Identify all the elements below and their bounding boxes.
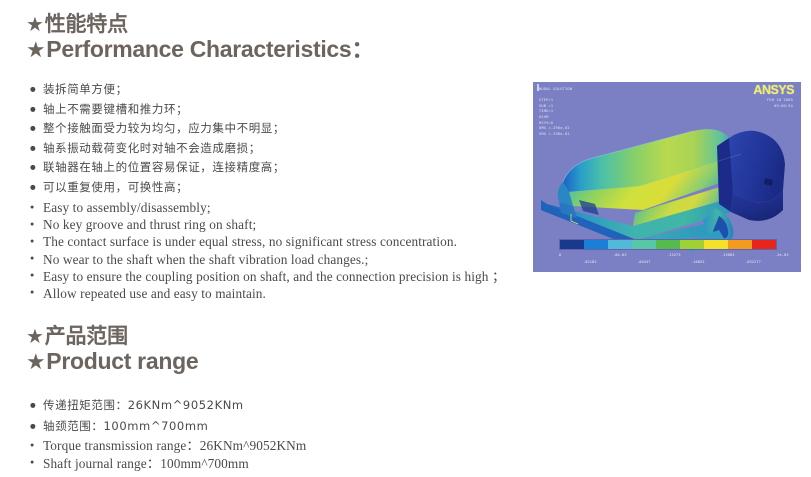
colorbar-band-5 bbox=[680, 240, 704, 249]
colorbar-band-7 bbox=[728, 240, 752, 249]
product-range-heading-en: ★Product range bbox=[26, 348, 198, 375]
list-item: 联轴器在轴上的位置容易保证，连接精度高； bbox=[30, 158, 285, 178]
colorbar-band-4 bbox=[656, 240, 680, 249]
product-range-bullets-en: Torque transmission range：26KNm^9052KNm … bbox=[30, 437, 306, 472]
product-range-bullets-cn: 传递扭矩范围：26KNm^9052KNm 轴颈范围：100mm^700mm bbox=[30, 395, 244, 437]
list-item: Shaft journal range：100mm^700mm bbox=[30, 455, 306, 473]
list-item: 轴颈范围：100mm^700mm bbox=[30, 416, 244, 437]
product-range-heading-cn-text: 产品范围 bbox=[45, 324, 128, 348]
colorbar-tick-label: 0 bbox=[559, 253, 561, 257]
list-item: 可以重复使用，可换性高； bbox=[30, 178, 285, 198]
colorbar-band-1 bbox=[584, 240, 608, 249]
colorbar-band-0 bbox=[560, 240, 584, 249]
contour-colorbar-labels: 0.8e-03.13273.19885.2e-03 .02182.04547.1… bbox=[553, 252, 785, 266]
star-icon: ★ bbox=[26, 350, 45, 375]
performance-heading-en-text: Performance Characteristics： bbox=[46, 36, 374, 62]
list-item: 轴上不需要键槽和推力环； bbox=[30, 100, 285, 120]
ansys-logo: ANSYS bbox=[753, 84, 794, 97]
ansys-fea-figure: ANSYS NODAL SOLUTION STEP=1 SUB =1 TIME=… bbox=[533, 82, 801, 272]
colorbar-band-3 bbox=[632, 240, 656, 249]
list-item: 装拆简单方便； bbox=[30, 80, 285, 100]
contour-colorbar bbox=[559, 239, 777, 250]
product-range-heading-en-text: Product range bbox=[46, 348, 198, 374]
list-item: No wear to the shaft when the shaft vibr… bbox=[30, 251, 505, 268]
colorbar-tick-label: .19885 bbox=[721, 253, 735, 257]
colorbar-tick-label: .8e-03 bbox=[613, 253, 627, 257]
performance-heading-cn-text: 性能特点 bbox=[45, 12, 128, 36]
fea-timestamp-info: FEB 18 2009 09:00:54 bbox=[767, 98, 793, 109]
list-item: 传递扭矩范围：26KNm^9052KNm bbox=[30, 395, 244, 416]
list-item: The contact surface is under equal stres… bbox=[30, 233, 505, 250]
ansys-logo-text: ANSYS bbox=[753, 83, 794, 97]
colorbar-tick-label: .13273 bbox=[667, 253, 681, 257]
colorbar-tick-label: .02182 bbox=[583, 260, 597, 264]
performance-heading-block: ★性能特点 ★Performance Characteristics： bbox=[26, 12, 374, 64]
list-item: Easy to assembly/disassembly; bbox=[30, 199, 505, 216]
performance-heading-en: ★Performance Characteristics： bbox=[26, 36, 374, 63]
list-item: Torque transmission range：26KNm^9052KNm bbox=[30, 437, 306, 455]
performance-bullets-en: Easy to assembly/disassembly; No key gro… bbox=[30, 199, 505, 302]
colorbar-tick-label: .04547 bbox=[637, 260, 651, 264]
colorbar-tick-label: .16052 bbox=[691, 260, 705, 264]
star-icon: ★ bbox=[26, 38, 45, 63]
list-item: No key groove and thrust ring on shaft; bbox=[30, 216, 505, 233]
list-item: Easy to ensure the coupling position on … bbox=[30, 268, 505, 285]
performance-bullets-cn: 装拆简单方便； 轴上不需要键槽和推力环； 整个接触面受力较为均匀，应力集中不明显… bbox=[30, 80, 285, 197]
colorbar-tick-label: .2e-03 bbox=[775, 253, 789, 257]
list-item: 整个接触面受力较为均匀，应力集中不明显； bbox=[30, 119, 285, 139]
star-icon: ★ bbox=[26, 324, 44, 348]
performance-heading-cn: ★性能特点 bbox=[26, 12, 374, 36]
product-range-heading-block: ★产品范围 ★Product range bbox=[26, 324, 198, 376]
colorbar-tick-label: .032277 bbox=[745, 260, 761, 264]
page-root: ★性能特点 ★Performance Characteristics： 装拆简单… bbox=[0, 0, 811, 477]
list-item: 轴系振动载荷变化时对轴不会造成磨损； bbox=[30, 139, 285, 159]
colorbar-band-8 bbox=[752, 240, 776, 249]
list-item: Allow repeated use and easy to maintain. bbox=[30, 285, 505, 302]
colorbar-tick-label: .296e02 bbox=[799, 260, 801, 264]
figure-canvas: ANSYS NODAL SOLUTION STEP=1 SUB =1 TIME=… bbox=[533, 82, 801, 272]
colorbar-band-2 bbox=[608, 240, 632, 249]
fea-solution-info: NODAL SOLUTION STEP=1 SUB =1 TIME=1 USUM… bbox=[539, 87, 572, 137]
product-range-heading-cn: ★产品范围 bbox=[26, 324, 198, 348]
star-icon: ★ bbox=[26, 12, 44, 36]
colorbar-band-6 bbox=[704, 240, 728, 249]
